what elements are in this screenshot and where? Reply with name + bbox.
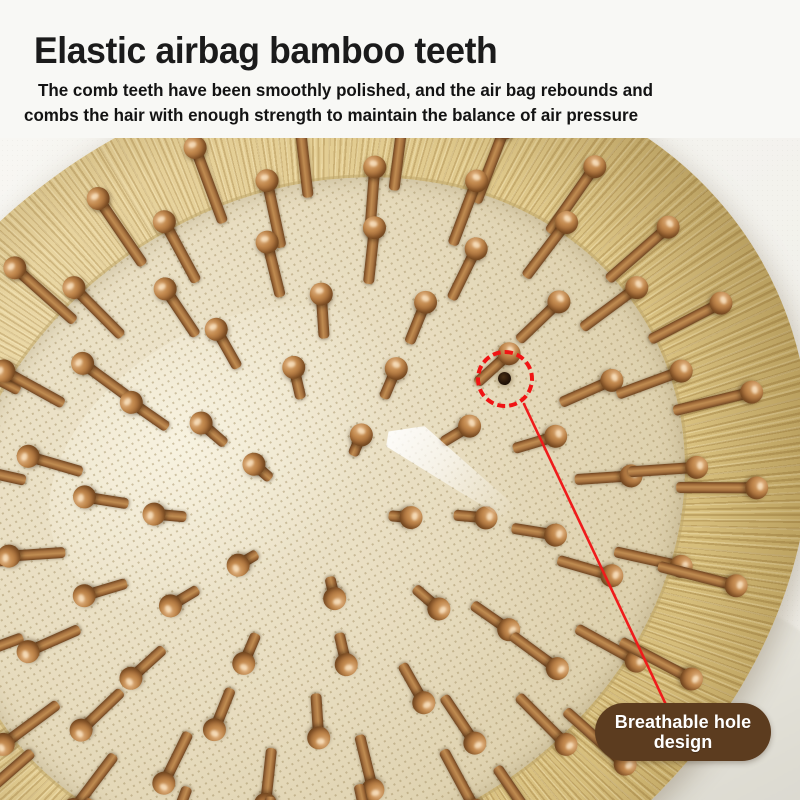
subtitle-line-2: combs the hair with enough strength to m… (24, 105, 638, 126)
pin-head (253, 228, 281, 256)
pin-head (399, 505, 424, 530)
pin-head (321, 585, 349, 613)
bristle-pin (676, 476, 768, 500)
bamboo-hair-brush (0, 138, 800, 800)
pin-head (307, 726, 331, 750)
hole-marker-circle-icon (476, 350, 534, 408)
bristle-pin (253, 796, 283, 800)
bristle-pin (0, 541, 66, 569)
bristle-pin (304, 693, 332, 750)
bristle-pin (142, 501, 188, 529)
subtitle-line-1: The comb teeth have been smoothly polish… (38, 80, 653, 101)
bristle-pin (308, 282, 336, 339)
pin-head (362, 155, 387, 180)
pin-head (0, 544, 21, 568)
product-photo (0, 138, 800, 800)
pin-head (253, 167, 280, 194)
pin-head (745, 477, 768, 500)
pin-head (309, 282, 333, 306)
pin-head (142, 501, 167, 526)
pin-head (542, 522, 568, 548)
pin-head (280, 353, 308, 381)
pin-head (738, 378, 766, 406)
breathable-hole-callout[interactable]: Breathable hole design (595, 703, 771, 761)
callout-label-line1: Breathable hole (615, 712, 752, 732)
callout-label-line2: design (654, 732, 713, 752)
product-infographic: Breathable hole design Elastic airbag ba… (0, 0, 800, 800)
header-block: Elastic airbag bamboo teeth The comb tee… (0, 0, 800, 138)
pin-shaft (260, 796, 276, 800)
pin-shaft (294, 138, 315, 198)
bristle-pin (388, 504, 424, 531)
pin-head (362, 215, 387, 240)
pin-head (71, 484, 97, 510)
page-title: Elastic airbag bamboo teeth (34, 30, 497, 72)
